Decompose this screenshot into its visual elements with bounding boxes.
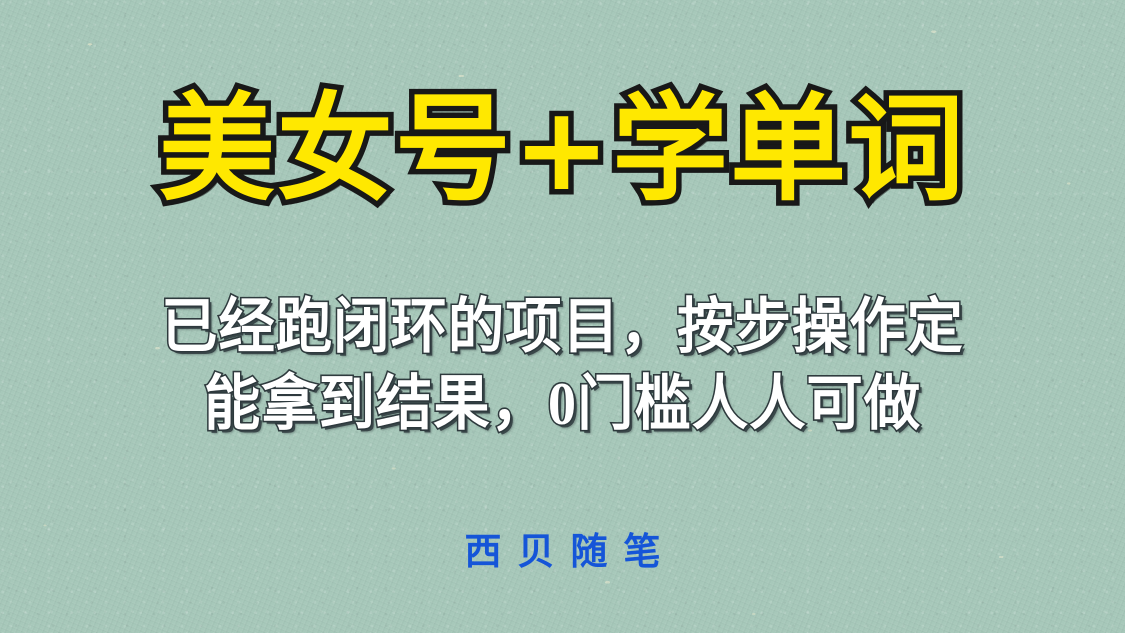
subtitle-block: 已经跑闭环的项目，按步操作定 能拿到结果，0门槛人人可做 [0, 289, 1125, 443]
subtitle-line-2: 能拿到结果，0门槛人人可做 [34, 366, 1092, 443]
subtitle-line-1: 已经跑闭环的项目，按步操作定 [34, 289, 1092, 366]
poster-content: 美女号+学单词 已经跑闭环的项目，按步操作定 能拿到结果，0门槛人人可做 西贝随… [0, 0, 1125, 633]
poster-title: 美女号+学单词 [159, 92, 966, 208]
poster-canvas: 美女号+学单词 已经跑闭环的项目，按步操作定 能拿到结果，0门槛人人可做 西贝随… [0, 0, 1125, 633]
footer-block: 西贝随笔 [0, 531, 1125, 575]
title-block: 美女号+学单词 [0, 92, 1125, 208]
footer-signature: 西贝随笔 [0, 531, 1125, 575]
